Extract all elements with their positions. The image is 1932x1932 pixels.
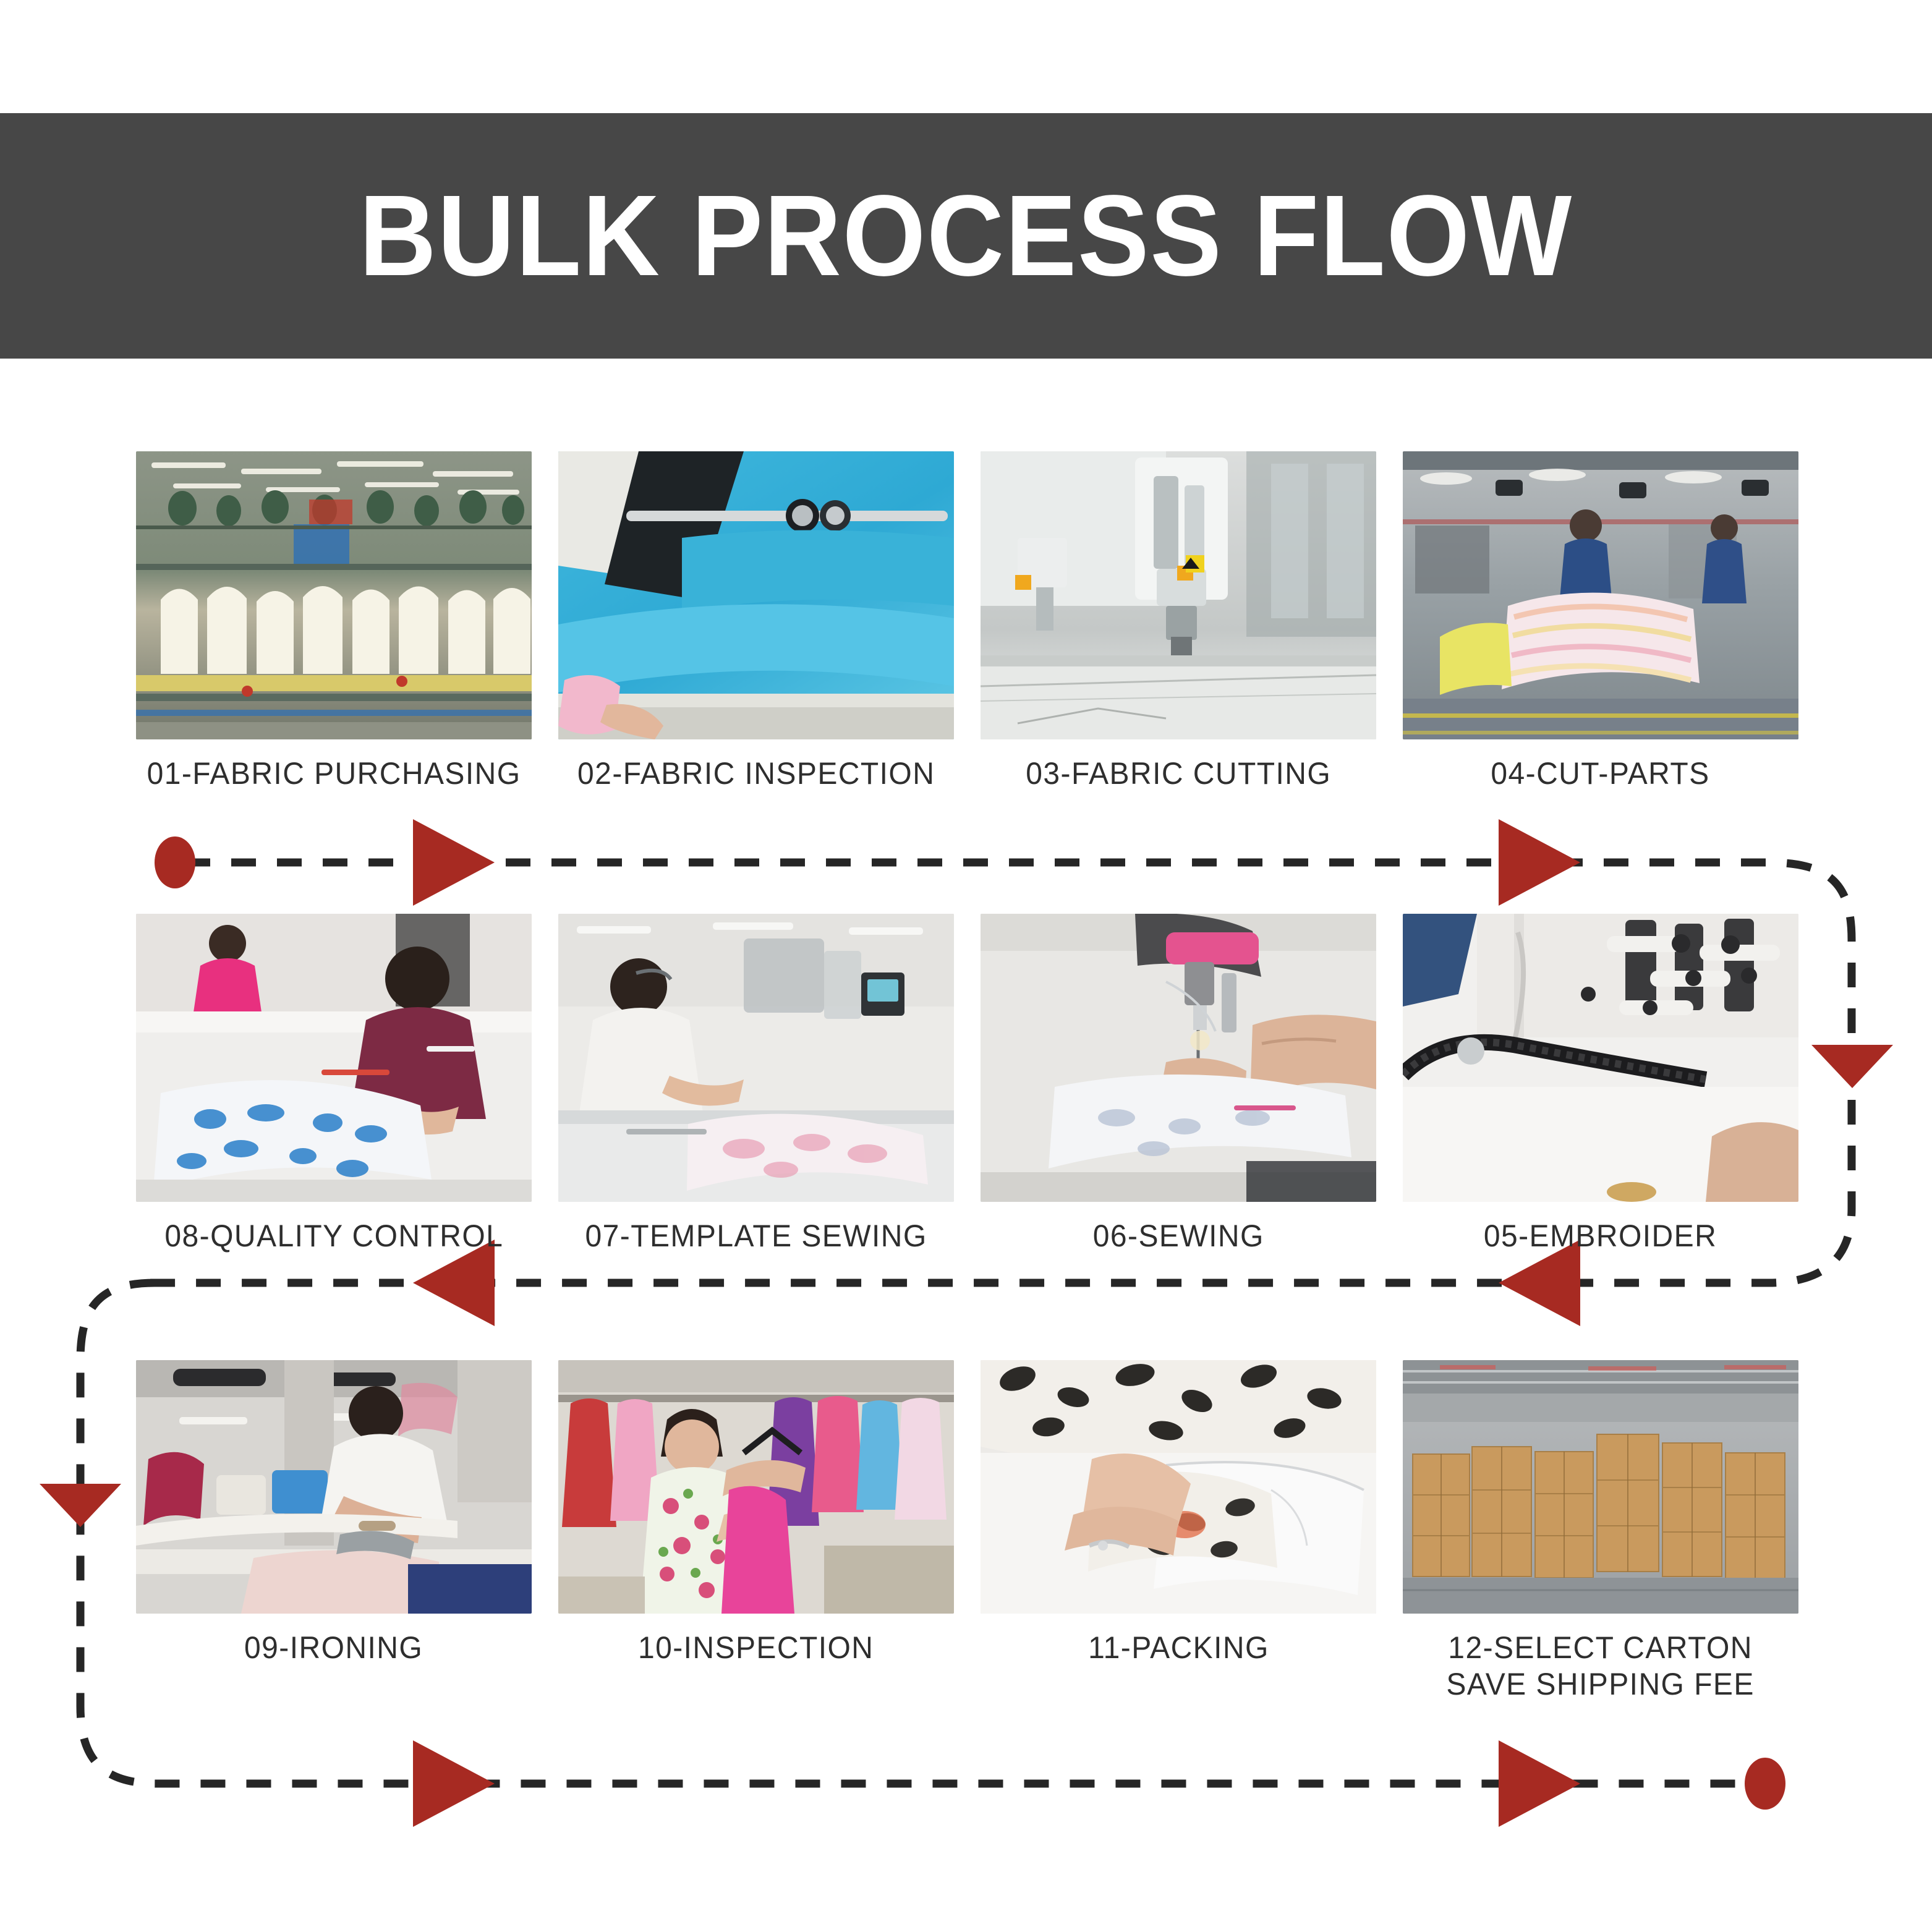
page-title: BULK PROCESS FLOW <box>359 179 1573 294</box>
flow-arrow-8 <box>413 1740 495 1827</box>
process-row-1: 01-FABRIC PURCHASING <box>136 451 1798 792</box>
fabric-inspection-photo <box>558 451 954 739</box>
process-step-11[interactable]: 11-PACKING <box>981 1360 1376 1703</box>
cut-parts-photo <box>1403 451 1798 739</box>
process-step-label: 04-CUT-PARTS <box>1491 755 1710 792</box>
process-step-label: 10-INSPECTION <box>638 1630 874 1666</box>
process-step-label: 09-IRONING <box>244 1630 423 1666</box>
process-step-05[interactable]: 05-EMBROIDER <box>1403 914 1798 1254</box>
end-dot <box>1745 1758 1785 1810</box>
process-step-09[interactable]: 09-IRONING <box>136 1360 532 1703</box>
quality-control-photo <box>136 914 532 1202</box>
template-sewing-photo <box>558 914 954 1202</box>
fabric-cutting-photo <box>981 451 1376 739</box>
process-step-10[interactable]: 10-INSPECTION <box>558 1360 954 1703</box>
flow-arrow-2 <box>1499 819 1580 906</box>
process-step-04[interactable]: 04-CUT-PARTS <box>1403 451 1798 792</box>
ironing-photo <box>136 1360 532 1614</box>
process-step-label: 06-SEWING <box>1092 1218 1264 1254</box>
start-dot <box>155 836 195 888</box>
select-carton-photo <box>1403 1360 1798 1614</box>
process-step-label: 05-EMBROIDER <box>1484 1218 1717 1254</box>
process-step-label: 07-TEMPLATE SEWING <box>585 1218 927 1254</box>
process-step-label: 12-SELECT CARTON SAVE SHIPPING FEE <box>1447 1630 1755 1703</box>
process-step-07[interactable]: 07-TEMPLATE SEWING <box>558 914 954 1254</box>
process-step-label: 02-FABRIC INSPECTION <box>577 755 935 792</box>
process-step-02[interactable]: 02-FABRIC INSPECTION <box>558 451 954 792</box>
flow-arrow-1 <box>413 819 495 906</box>
flow-arrow-6 <box>40 1484 121 1527</box>
infographic-canvas: BULK PROCESS FLOW .dash { fill:none; str… <box>0 0 1932 1932</box>
process-step-label: 11-PACKING <box>1088 1630 1269 1666</box>
process-step-08[interactable]: 08-QUALITY CONTROL <box>136 914 532 1254</box>
header-bar: BULK PROCESS FLOW <box>0 113 1932 359</box>
flow-arrow-7 <box>1499 1740 1580 1827</box>
inspection-photo <box>558 1360 954 1614</box>
process-step-03[interactable]: 03-FABRIC CUTTING <box>981 451 1376 792</box>
process-step-12[interactable]: 12-SELECT CARTON SAVE SHIPPING FEE <box>1403 1360 1798 1703</box>
process-step-label: 01-FABRIC PURCHASING <box>147 755 521 792</box>
sewing-photo <box>981 914 1376 1202</box>
process-step-label: 03-FABRIC CUTTING <box>1026 755 1331 792</box>
process-step-label: 08-QUALITY CONTROL <box>164 1218 503 1254</box>
process-row-3: 09-IRONING <box>136 1360 1798 1703</box>
process-row-2: 08-QUALITY CONTROL <box>136 914 1798 1254</box>
packing-photo <box>981 1360 1376 1614</box>
process-step-01[interactable]: 01-FABRIC PURCHASING <box>136 451 532 792</box>
fabric-purchasing-photo <box>136 451 532 739</box>
embroider-photo <box>1403 914 1798 1202</box>
process-step-06[interactable]: 06-SEWING <box>981 914 1376 1254</box>
flow-arrow-3 <box>1811 1045 1893 1088</box>
